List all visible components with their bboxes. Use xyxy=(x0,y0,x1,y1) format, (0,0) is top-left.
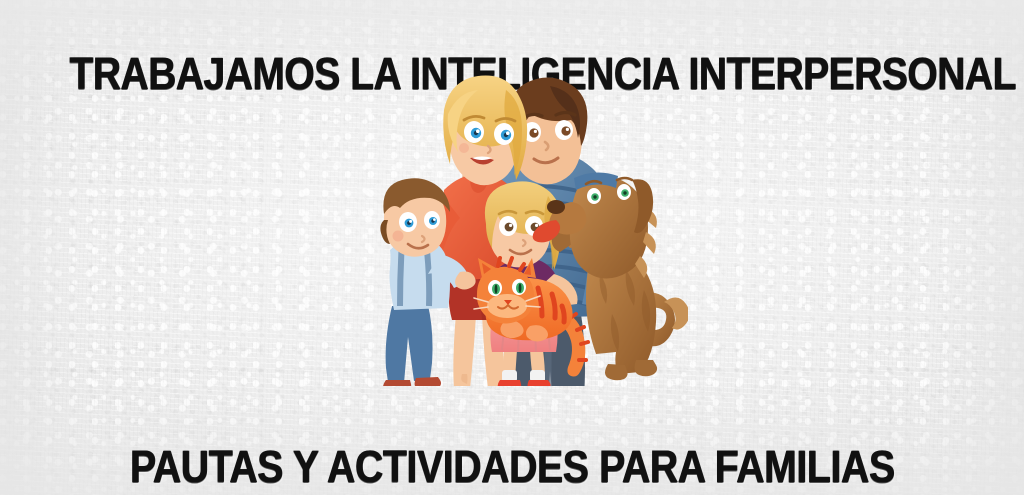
poster-subtitle: PAUTAS Y ACTIVIDADES PARA FAMILIAS xyxy=(67,444,958,490)
poster-canvas: TRABAJAMOS LA INTELIGENCIA INTERPERSONAL… xyxy=(0,0,1024,495)
family-illustration-graphic xyxy=(378,74,688,386)
family-illustration xyxy=(378,74,688,386)
